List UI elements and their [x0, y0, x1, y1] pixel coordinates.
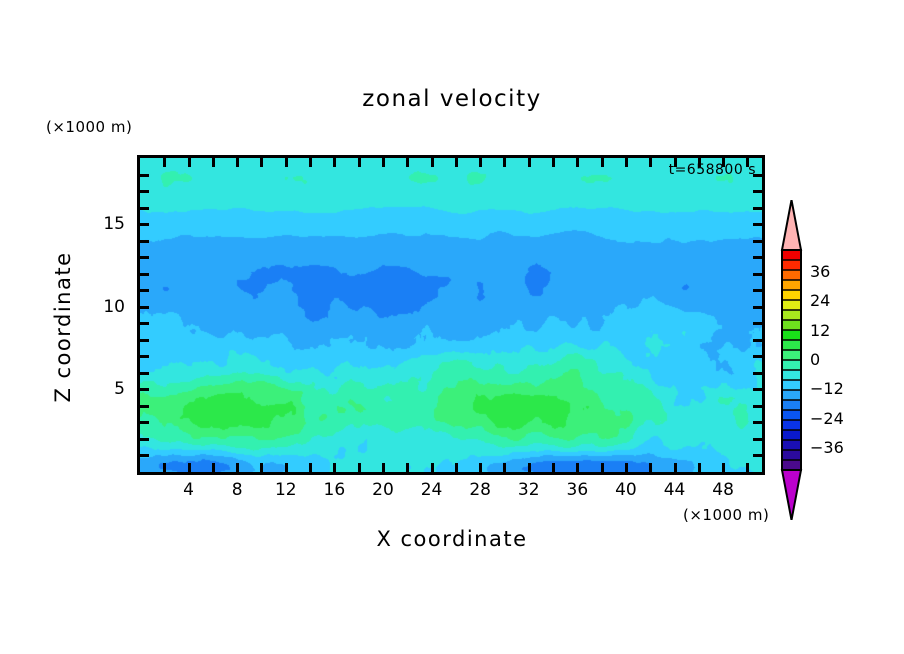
colorbar-segment [782, 430, 801, 441]
contour-plot-area: t=658800 s [137, 155, 765, 475]
x-tick-bottom [333, 463, 336, 472]
colorbar-under-cap [782, 470, 801, 520]
colorbar-segment [782, 280, 801, 291]
z-tick-left [140, 306, 149, 309]
z-tick-right [753, 388, 762, 391]
x-tick-top [576, 158, 579, 167]
colorbar-segment [782, 420, 801, 431]
x-tick-bottom [406, 463, 409, 472]
x-tick-bottom [625, 463, 628, 472]
z-tick-right [753, 174, 762, 177]
x-tick-top [625, 158, 628, 167]
z-tick-right [753, 223, 762, 226]
z-tick-left [140, 273, 149, 276]
z-tick-label: 15 [65, 214, 125, 234]
x-tick-label: 48 [693, 480, 753, 500]
colorbar-tick-label: −24 [810, 409, 844, 428]
x-tick-top [722, 158, 725, 167]
colorbar-segment [782, 320, 801, 331]
x-tick-top [601, 158, 604, 167]
x-tick-top [649, 158, 652, 167]
colorbar-segment [782, 270, 801, 281]
colorbar-segment [782, 310, 801, 321]
x-tick-top [236, 158, 239, 167]
x-tick-bottom [382, 463, 385, 472]
z-tick-left [140, 190, 149, 193]
x-tick-top [260, 158, 263, 167]
z-tick-right [753, 240, 762, 243]
x-tick-bottom [528, 463, 531, 472]
z-tick-right [753, 306, 762, 309]
colorbar-segment [782, 290, 801, 301]
z-tick-left [140, 207, 149, 210]
z-tick-right [753, 289, 762, 292]
x-tick-top [285, 158, 288, 167]
colorbar-over-cap [782, 200, 801, 250]
plot-title: zonal velocity [0, 86, 904, 112]
x-tick-bottom [576, 463, 579, 472]
x-tick-bottom [479, 463, 482, 472]
x-tick-bottom [309, 463, 312, 472]
x-tick-bottom [285, 463, 288, 472]
x-tick-top [552, 158, 555, 167]
x-tick-bottom [431, 463, 434, 472]
x-tick-bottom [503, 463, 506, 472]
z-tick-left [140, 388, 149, 391]
x-tick-top [333, 158, 336, 167]
z-tick-left [140, 438, 149, 441]
z-tick-right [753, 339, 762, 342]
colorbar-tick-label: 12 [810, 321, 830, 340]
z-tick-left [140, 405, 149, 408]
z-tick-left [140, 174, 149, 177]
colorbar-segment [782, 380, 801, 391]
z-tick-left [140, 322, 149, 325]
colorbar-segment [782, 400, 801, 411]
colorbar-segment [782, 370, 801, 381]
velocity-field-canvas [140, 158, 762, 472]
z-tick-left [140, 289, 149, 292]
colorbar-tick-label: 24 [810, 291, 830, 310]
colorbar-segment [782, 350, 801, 361]
colorbar-segment [782, 360, 801, 371]
z-tick-left [140, 256, 149, 259]
figure-canvas: zonal velocity (×1000 m) (×1000 m) X coo… [0, 0, 904, 654]
colorbar-segment [782, 390, 801, 401]
z-tick-right [753, 438, 762, 441]
z-tick-right [753, 372, 762, 375]
time-annotation: t=658800 s [669, 162, 756, 178]
colorbar-segment [782, 410, 801, 421]
colorbar-segment [782, 260, 801, 271]
z-tick-left [140, 240, 149, 243]
colorbar-segment [782, 300, 801, 311]
x-tick-bottom [455, 463, 458, 472]
x-tick-top [358, 158, 361, 167]
x-tick-bottom [260, 463, 263, 472]
x-tick-bottom [236, 463, 239, 472]
colorbar-tick-label: 0 [810, 350, 820, 369]
colorbar-segment [782, 450, 801, 461]
x-tick-bottom [649, 463, 652, 472]
x-tick-bottom [601, 463, 604, 472]
x-axis-title: X coordinate [0, 527, 904, 551]
z-tick-right [753, 256, 762, 259]
colorbar-swatches [778, 200, 804, 520]
x-tick-top [188, 158, 191, 167]
z-tick-left [140, 454, 149, 457]
z-tick-left [140, 355, 149, 358]
colorbar-tick-label: −36 [810, 438, 844, 457]
x-tick-bottom [698, 463, 701, 472]
z-tick-left [140, 223, 149, 226]
x-tick-top [431, 158, 434, 167]
colorbar-segment [782, 440, 801, 451]
x-tick-top [698, 158, 701, 167]
z-axis-title: Z coordinate [51, 217, 75, 437]
z-tick-right [753, 405, 762, 408]
x-tick-top [406, 158, 409, 167]
z-tick-left [140, 421, 149, 424]
x-tick-top [455, 158, 458, 167]
x-tick-top [746, 158, 749, 167]
x-tick-bottom [212, 463, 215, 472]
x-tick-top [212, 158, 215, 167]
x-tick-bottom [552, 463, 555, 472]
colorbar-tick-label: 36 [810, 262, 830, 281]
x-tick-top [528, 158, 531, 167]
z-tick-label: 10 [65, 297, 125, 317]
x-tick-top [309, 158, 312, 167]
z-tick-right [753, 355, 762, 358]
colorbar [778, 200, 804, 520]
x-tick-bottom [188, 463, 191, 472]
colorbar-segment [782, 340, 801, 351]
x-axis-units-label: (×1000 m) [683, 506, 769, 524]
z-tick-right [753, 421, 762, 424]
z-axis-units-label: (×1000 m) [46, 118, 132, 136]
colorbar-segment [782, 330, 801, 341]
z-tick-right [753, 207, 762, 210]
z-tick-label: 5 [65, 379, 125, 399]
x-tick-bottom [358, 463, 361, 472]
x-tick-top [382, 158, 385, 167]
z-tick-right [753, 322, 762, 325]
x-tick-bottom [163, 463, 166, 472]
z-tick-left [140, 339, 149, 342]
colorbar-tick-label: −12 [810, 379, 844, 398]
z-tick-right [753, 190, 762, 193]
x-tick-bottom [722, 463, 725, 472]
x-tick-bottom [746, 463, 749, 472]
x-tick-top [674, 158, 677, 167]
x-tick-top [479, 158, 482, 167]
z-tick-right [753, 454, 762, 457]
colorbar-segment [782, 250, 801, 261]
x-tick-top [503, 158, 506, 167]
z-tick-left [140, 372, 149, 375]
x-tick-top [163, 158, 166, 167]
z-tick-right [753, 273, 762, 276]
x-tick-bottom [674, 463, 677, 472]
